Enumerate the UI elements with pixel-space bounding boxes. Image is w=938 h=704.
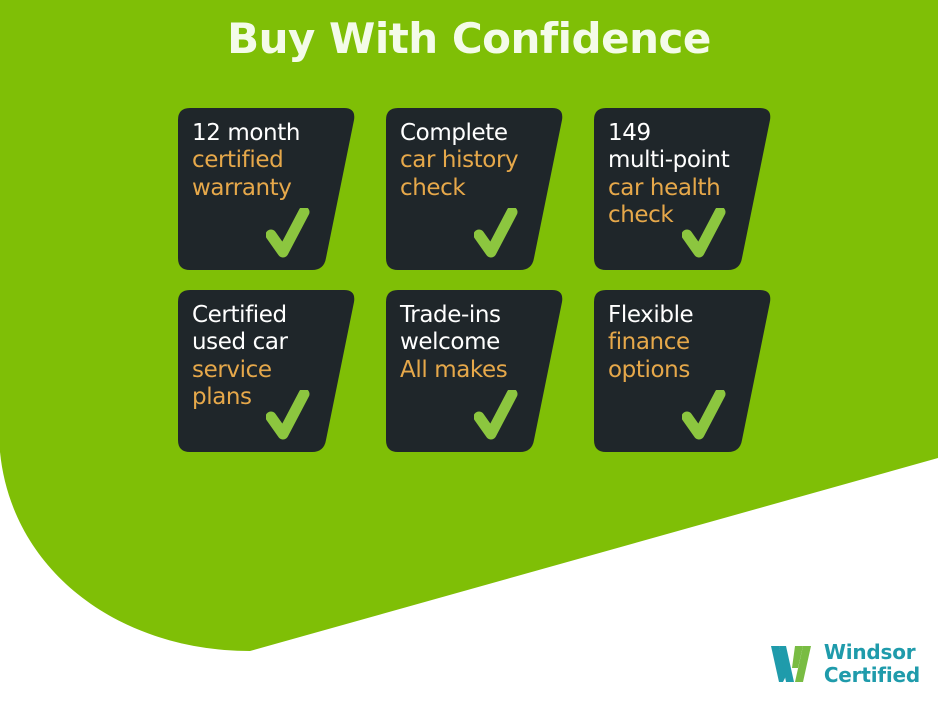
card-text-block: 12 month certified warranty xyxy=(192,120,340,202)
benefit-card-finance[interactable]: Flexible finance options xyxy=(594,290,758,452)
card-line: used car xyxy=(192,329,340,356)
card-line: car health xyxy=(608,175,756,202)
card-line: 12 month xyxy=(192,120,340,147)
card-line: Certified xyxy=(192,302,340,329)
benefit-card-multi-point[interactable]: 149 multi-point car health check xyxy=(594,108,758,270)
card-line: All makes xyxy=(400,357,548,384)
card-line: options xyxy=(608,357,756,384)
checkmark-icon xyxy=(682,208,726,262)
card-line: check xyxy=(400,175,548,202)
logo-wordmark: Windsor Certified xyxy=(824,641,920,686)
benefit-card-trade-ins[interactable]: Trade-ins welcome All makes xyxy=(386,290,550,452)
logo-line-windsor: Windsor xyxy=(824,641,920,663)
card-line: Trade-ins xyxy=(400,302,548,329)
page-title: Buy With Confidence xyxy=(0,16,938,62)
card-row-top: 12 month certified warranty Complete car… xyxy=(178,108,758,270)
card-line: service xyxy=(192,357,340,384)
benefit-card-history-check[interactable]: Complete car history check xyxy=(386,108,550,270)
benefit-card-service-plans[interactable]: Certified used car service plans xyxy=(178,290,342,452)
checkmark-icon xyxy=(474,390,518,444)
card-line: Flexible xyxy=(608,302,756,329)
windsor-certified-logo[interactable]: Windsor Certified xyxy=(768,641,920,686)
poster-canvas: Buy With Confidence 12 month certified w… xyxy=(0,0,938,704)
card-text-block: Flexible finance options xyxy=(608,302,756,384)
card-text-block: Trade-ins welcome All makes xyxy=(400,302,548,384)
checkmark-icon xyxy=(682,390,726,444)
checkmark-icon xyxy=(266,208,310,262)
card-line: warranty xyxy=(192,175,340,202)
benefit-card-warranty[interactable]: 12 month certified warranty xyxy=(178,108,342,270)
checkmark-icon xyxy=(266,390,310,444)
logo-line-certified: Certified xyxy=(824,664,920,686)
card-text-block: Complete car history check xyxy=(400,120,548,202)
checkmark-icon xyxy=(474,208,518,262)
card-line: finance xyxy=(608,329,756,356)
windsor-w-icon xyxy=(768,642,814,686)
card-line: car history xyxy=(400,147,548,174)
card-line: welcome xyxy=(400,329,548,356)
card-line: 149 xyxy=(608,120,756,147)
card-line: Complete xyxy=(400,120,548,147)
card-line: multi-point xyxy=(608,147,756,174)
benefits-card-grid: 12 month certified warranty Complete car… xyxy=(178,108,758,472)
card-row-bottom: Certified used car service plans Trade-i… xyxy=(178,290,758,452)
card-line: certified xyxy=(192,147,340,174)
